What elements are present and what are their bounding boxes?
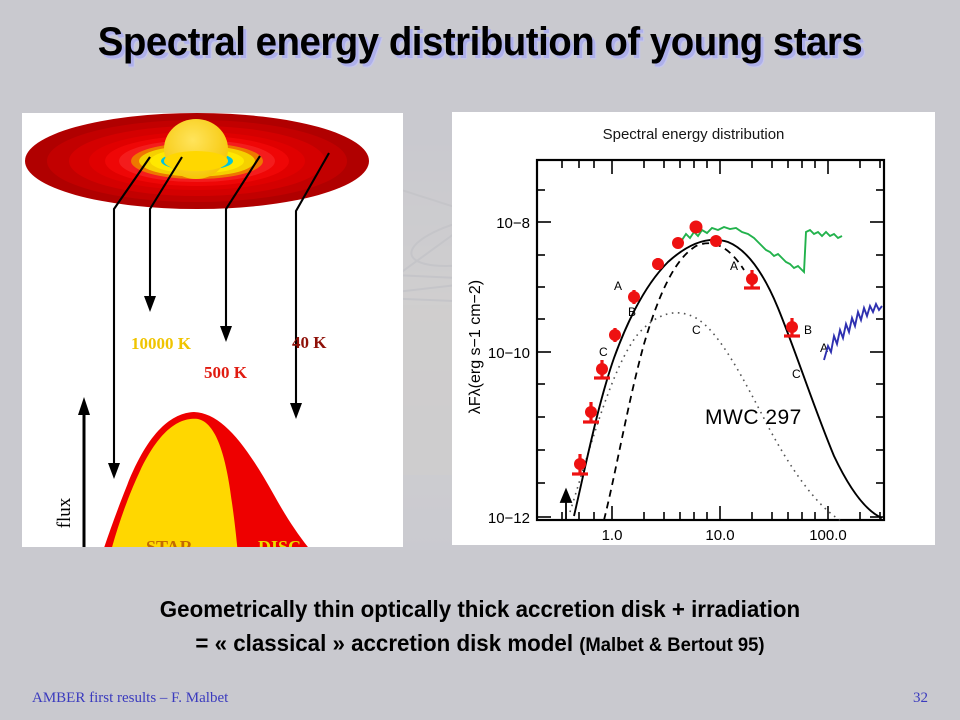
temperature-label-10000k: 10000 K bbox=[131, 334, 192, 353]
star-curve-label: STAR bbox=[146, 537, 194, 547]
star-disc-sed-schematic: 10000 K 500 K 40 K flux wavelength STAR … bbox=[22, 113, 403, 547]
x-tick-label-1: 1.0 bbox=[602, 527, 623, 544]
curve-label-a-left: A bbox=[614, 279, 622, 293]
footer-left-text: AMBER first results – F. Malbet bbox=[32, 690, 228, 707]
curve-label-a-mid: A bbox=[730, 259, 738, 273]
sed-chart: 10−8 10−10 10−12 1.0 10.0 100.0 λFλ(erg … bbox=[452, 112, 935, 545]
body-citation: (Malbet & Bertout 95) bbox=[579, 635, 764, 656]
disc-curve-label: DISC bbox=[258, 537, 301, 547]
model-curve-b bbox=[604, 243, 744, 520]
curve-label-c-mid: C bbox=[692, 323, 701, 337]
x-tick-label-10: 10.0 bbox=[705, 527, 734, 544]
y-tick-label-2: 10−10 bbox=[488, 345, 530, 362]
temperature-label-500k: 500 K bbox=[204, 363, 248, 382]
temperature-label-40k: 40 K bbox=[292, 333, 327, 352]
chart-title: Spectral energy distribution bbox=[452, 126, 935, 143]
curve-label-b-right: B bbox=[804, 323, 812, 337]
curve-label-c-right: C bbox=[792, 367, 801, 381]
x-tick-label-100: 100.0 bbox=[809, 527, 847, 544]
curve-label-c-left: C bbox=[599, 345, 608, 359]
body-line-1: Geometrically thin optically thick accre… bbox=[14, 592, 945, 626]
page-title: Spectral energy distribution of young st… bbox=[19, 20, 941, 65]
curve-letter-labels: C B A C A C B A bbox=[599, 259, 828, 381]
y-axis-title: λFλ(erg s−1 cm−2) bbox=[467, 280, 484, 414]
sed-chart-panel: Spectral energy distribution bbox=[452, 112, 935, 545]
sed-y-axis-label: flux bbox=[54, 497, 75, 528]
y-tick-label-3: 10−12 bbox=[488, 510, 530, 527]
body-line-2: = « classical » accretion disk model bbox=[195, 630, 579, 656]
chart-object-annotation: MWC 297 bbox=[705, 406, 802, 430]
curve-label-b-left: B bbox=[628, 305, 636, 319]
plot-frame bbox=[537, 160, 884, 520]
y-tick-label-1: 10−8 bbox=[496, 215, 530, 232]
footer-page-number: 32 bbox=[913, 690, 928, 707]
iso-sws-green-spectrum bbox=[682, 227, 842, 272]
left-figure-panel: 10000 K 500 K 40 K flux wavelength STAR … bbox=[22, 113, 403, 547]
slide-footer: AMBER first results – F. Malbet 32 bbox=[32, 690, 928, 707]
slide-body-text: Geometrically thin optically thick accre… bbox=[14, 592, 945, 663]
body-line-2-wrapper: = « classical » accretion disk model (Ma… bbox=[14, 626, 945, 663]
